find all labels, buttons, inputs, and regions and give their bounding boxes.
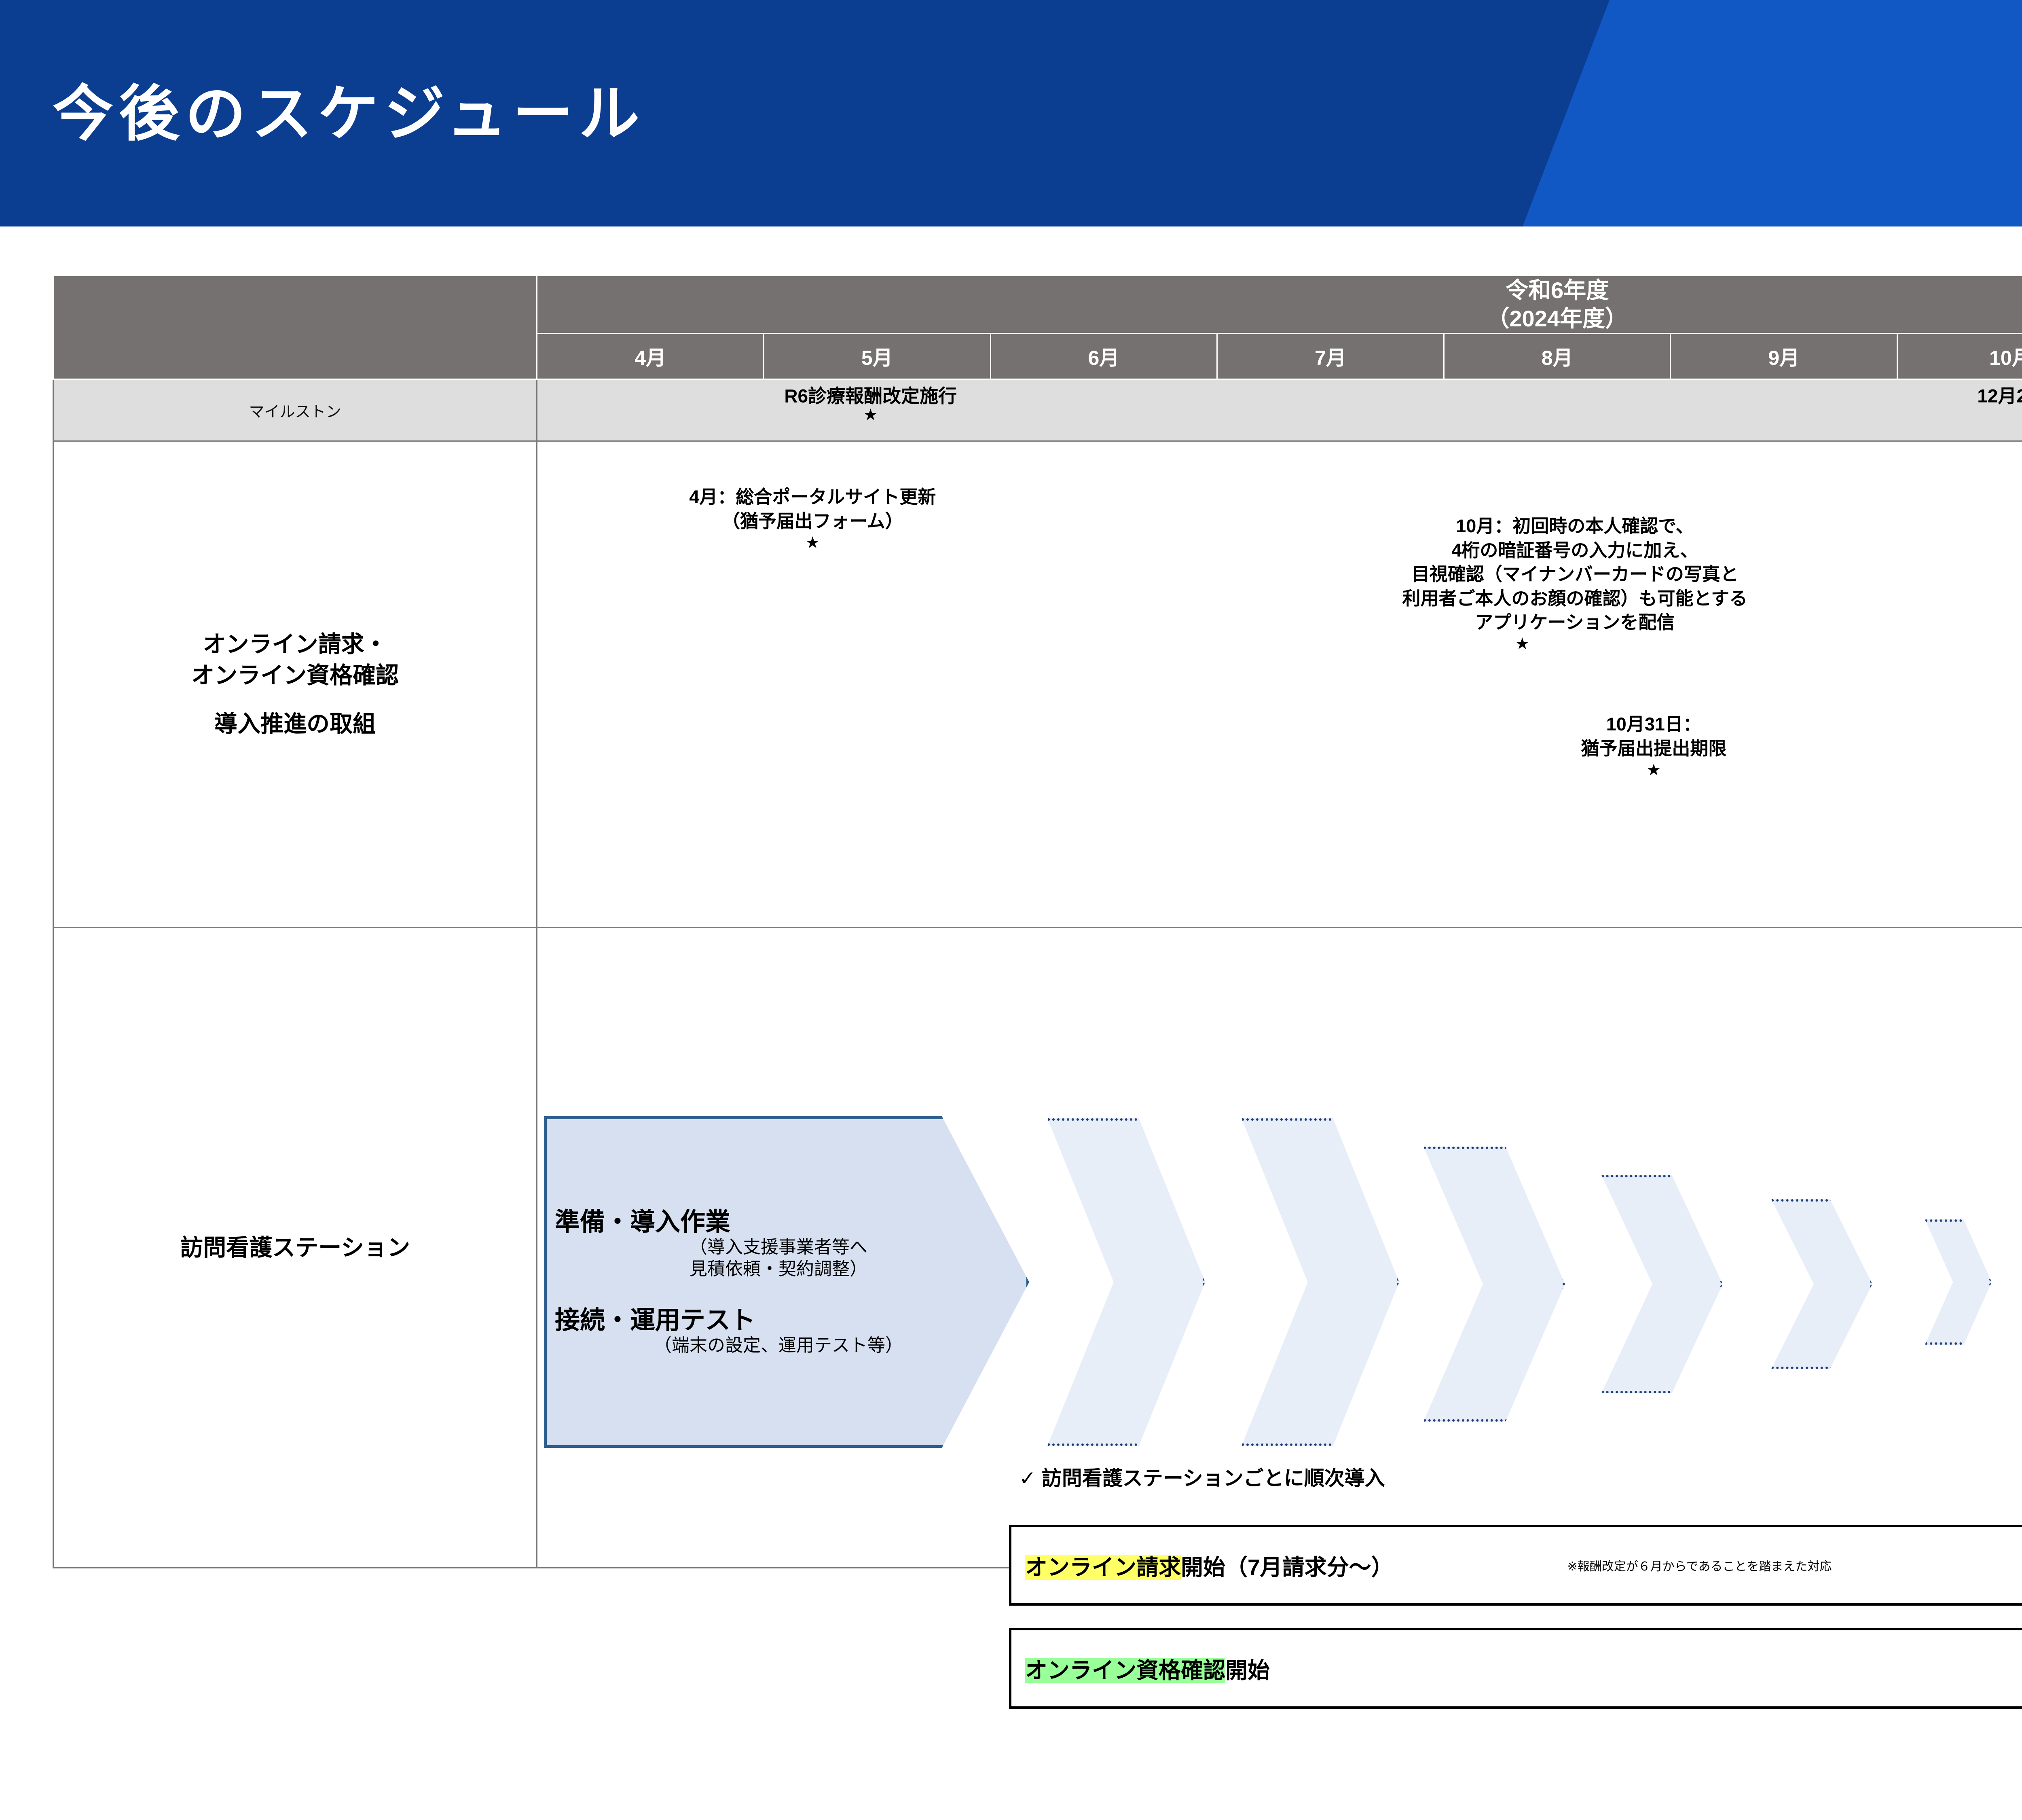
row-label-online-claim: オンライン請求・ オンライン資格確認 導入推進の取組: [53, 441, 537, 928]
header-month-6: 6月: [990, 334, 1217, 379]
header-month-4: 4月: [537, 334, 764, 379]
milestone-r6-revision-text: R6診療報酬改定施行: [784, 385, 957, 406]
milestone-row-label: マイルストン: [53, 379, 537, 441]
note-april-portal-text: 4月：総合ポータルサイト更新 （猶予届出フォーム）: [689, 487, 936, 531]
band-online-qualification-highlight: オンライン資格確認: [1025, 1658, 1225, 1683]
fiscal-year-line2: （2024年度）: [537, 305, 2022, 333]
band-online-qualification-rest: 開始: [1225, 1658, 1270, 1683]
note-october31-deadline: 10月31日： 猶予届出提出期限 ★: [1431, 688, 1876, 802]
note-april-portal: 4月：総合ポータルサイト更新 （猶予届出フォーム） ★: [590, 461, 1035, 575]
sequential-rollout-note: ✓ 訪問看護ステーションごとに順次導入: [1019, 1462, 1385, 1491]
band-online-claim-highlight: オンライン請求: [1025, 1555, 1181, 1580]
schedule-table: 令和6年度 （2024年度） 4月 5月 6月 7月 8月 9月 10月 11月…: [53, 275, 2022, 1568]
table-header-year-row: 令和6年度 （2024年度）: [53, 276, 2022, 334]
prep-subtitle: （導入支援事業者等へ 見積依頼・契約調整）: [555, 1236, 1026, 1280]
banner-diagonal-light: [1523, 0, 2022, 226]
milestone-cells: R6診療報酬改定施行 ★ 12月2日：保険証の新規発行終了 ★: [537, 379, 2022, 441]
note-star-icon: ★: [590, 535, 1035, 551]
note-december-claim-mandatory: 12月請求分（オン請求）： 義務化（経過措置あり） ★: [1908, 469, 2022, 583]
fiscal-year-line1: 令和6年度: [537, 276, 2022, 305]
milestone-r6-revision: R6診療報酬改定施行 ★: [784, 385, 957, 423]
band-online-qualification-start: オンライン資格確認開始: [1009, 1628, 2022, 1709]
band-online-claim-start: オンライン請求開始（7月請求分〜） ※報酬改定が６月からであることを踏まえた対応: [1009, 1525, 2022, 1606]
note-december2-onshi-mandatory: 12月2日（オン資）： 義務化（経過措置あり） ★: [1920, 579, 2022, 693]
row-label-visiting-nursing-station: 訪問看護ステーション: [53, 928, 537, 1568]
band-online-claim-rest: 開始（7月請求分〜）: [1181, 1555, 1394, 1580]
milestone-insurance-card-end-text: 12月2日：保険証の新規発行終了: [1977, 385, 2022, 406]
milestone-star-icon: ★: [784, 407, 957, 423]
table-corner-cell: [53, 276, 537, 379]
header-month-5: 5月: [764, 334, 990, 379]
band-online-claim-label: オンライン請求開始（7月請求分〜）: [1025, 1549, 1394, 1581]
prep-phase-pentagon: 準備・導入作業 （導入支援事業者等へ 見積依頼・契約調整） 接続・運用テスト （…: [544, 1116, 1029, 1448]
row-label-line3: 導入推進の取組: [54, 709, 536, 740]
note-star-icon: ★: [1920, 653, 2022, 669]
row-label-line1: オンライン請求・: [54, 629, 536, 660]
milestone-insurance-card-end: 12月2日：保険証の新規発行終了 ★: [1977, 385, 2022, 423]
prep-title: 準備・導入作業: [555, 1208, 1026, 1236]
note-october-identity-check-text: 10月：初回時の本人確認で、 4桁の暗証番号の入力に加え、 目視確認（マイナンバ…: [1402, 516, 1748, 633]
row-online-claim: オンライン請求・ オンライン資格確認 導入推進の取組 4月：総合ポータルサイト更…: [53, 441, 2022, 928]
note-star-icon: ★: [1116, 636, 1929, 652]
note-star-icon: ★: [1431, 762, 1876, 778]
milestone-row: マイルストン R6診療報酬改定施行 ★ 12月2日：保険証の新規発行終了 ★: [53, 379, 2022, 441]
header-month-8: 8月: [1444, 334, 1671, 379]
milestone-star-icon: ★: [1977, 407, 2022, 423]
header-fiscal-year: 令和6年度 （2024年度）: [537, 276, 2022, 334]
header-month-10: 10月: [1897, 334, 2022, 379]
test-title: 接続・運用テスト: [555, 1306, 1026, 1335]
note-october-identity-check: 10月：初回時の本人確認で、 4桁の暗証番号の入力に加え、 目視確認（マイナンバ…: [1221, 490, 1929, 676]
header-month-9: 9月: [1671, 334, 1897, 379]
band-online-claim-note: ※報酬改定が６月からであることを踏まえた対応: [1567, 1556, 1832, 1574]
header-month-7: 7月: [1217, 334, 1444, 379]
note-star-icon: ★: [1908, 543, 2022, 559]
test-subtitle: （端末の設定、運用テスト等）: [555, 1335, 1026, 1357]
row-label-line2: オンライン資格確認: [54, 660, 536, 691]
row-online-claim-content: 4月：総合ポータルサイト更新 （猶予届出フォーム） ★ 10月：初回時の本人確認…: [537, 441, 2022, 928]
note-october31-deadline-text: 10月31日： 猶予届出提出期限: [1581, 714, 1726, 758]
band-online-qualification-label: オンライン資格確認開始: [1025, 1652, 1270, 1685]
page-title: 今後のスケジュール: [53, 65, 645, 152]
